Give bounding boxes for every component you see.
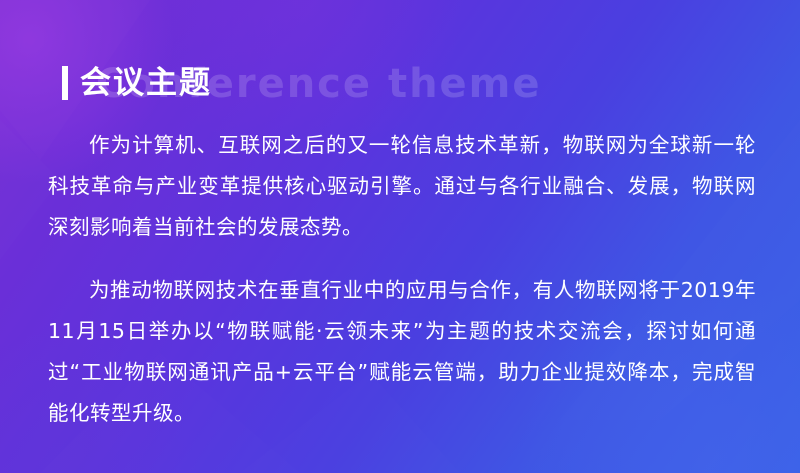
title-accent-bar [62, 66, 68, 100]
paragraph: 为推动物联网技术在垂直行业中的应用与合作，有人物联网将于2019年11月15日举… [48, 270, 756, 434]
slide-canvas: Conference theme 会议主题 作为计算机、互联网之后的又一轮信息技… [0, 0, 800, 473]
paragraph: 作为计算机、互联网之后的又一轮信息技术革新，物联网为全球新一轮科技革命与产业变革… [48, 125, 756, 248]
body-copy: 作为计算机、互联网之后的又一轮信息技术革新，物联网为全球新一轮科技革命与产业变革… [48, 125, 756, 434]
page-title-text: 会议主题 [80, 68, 212, 99]
